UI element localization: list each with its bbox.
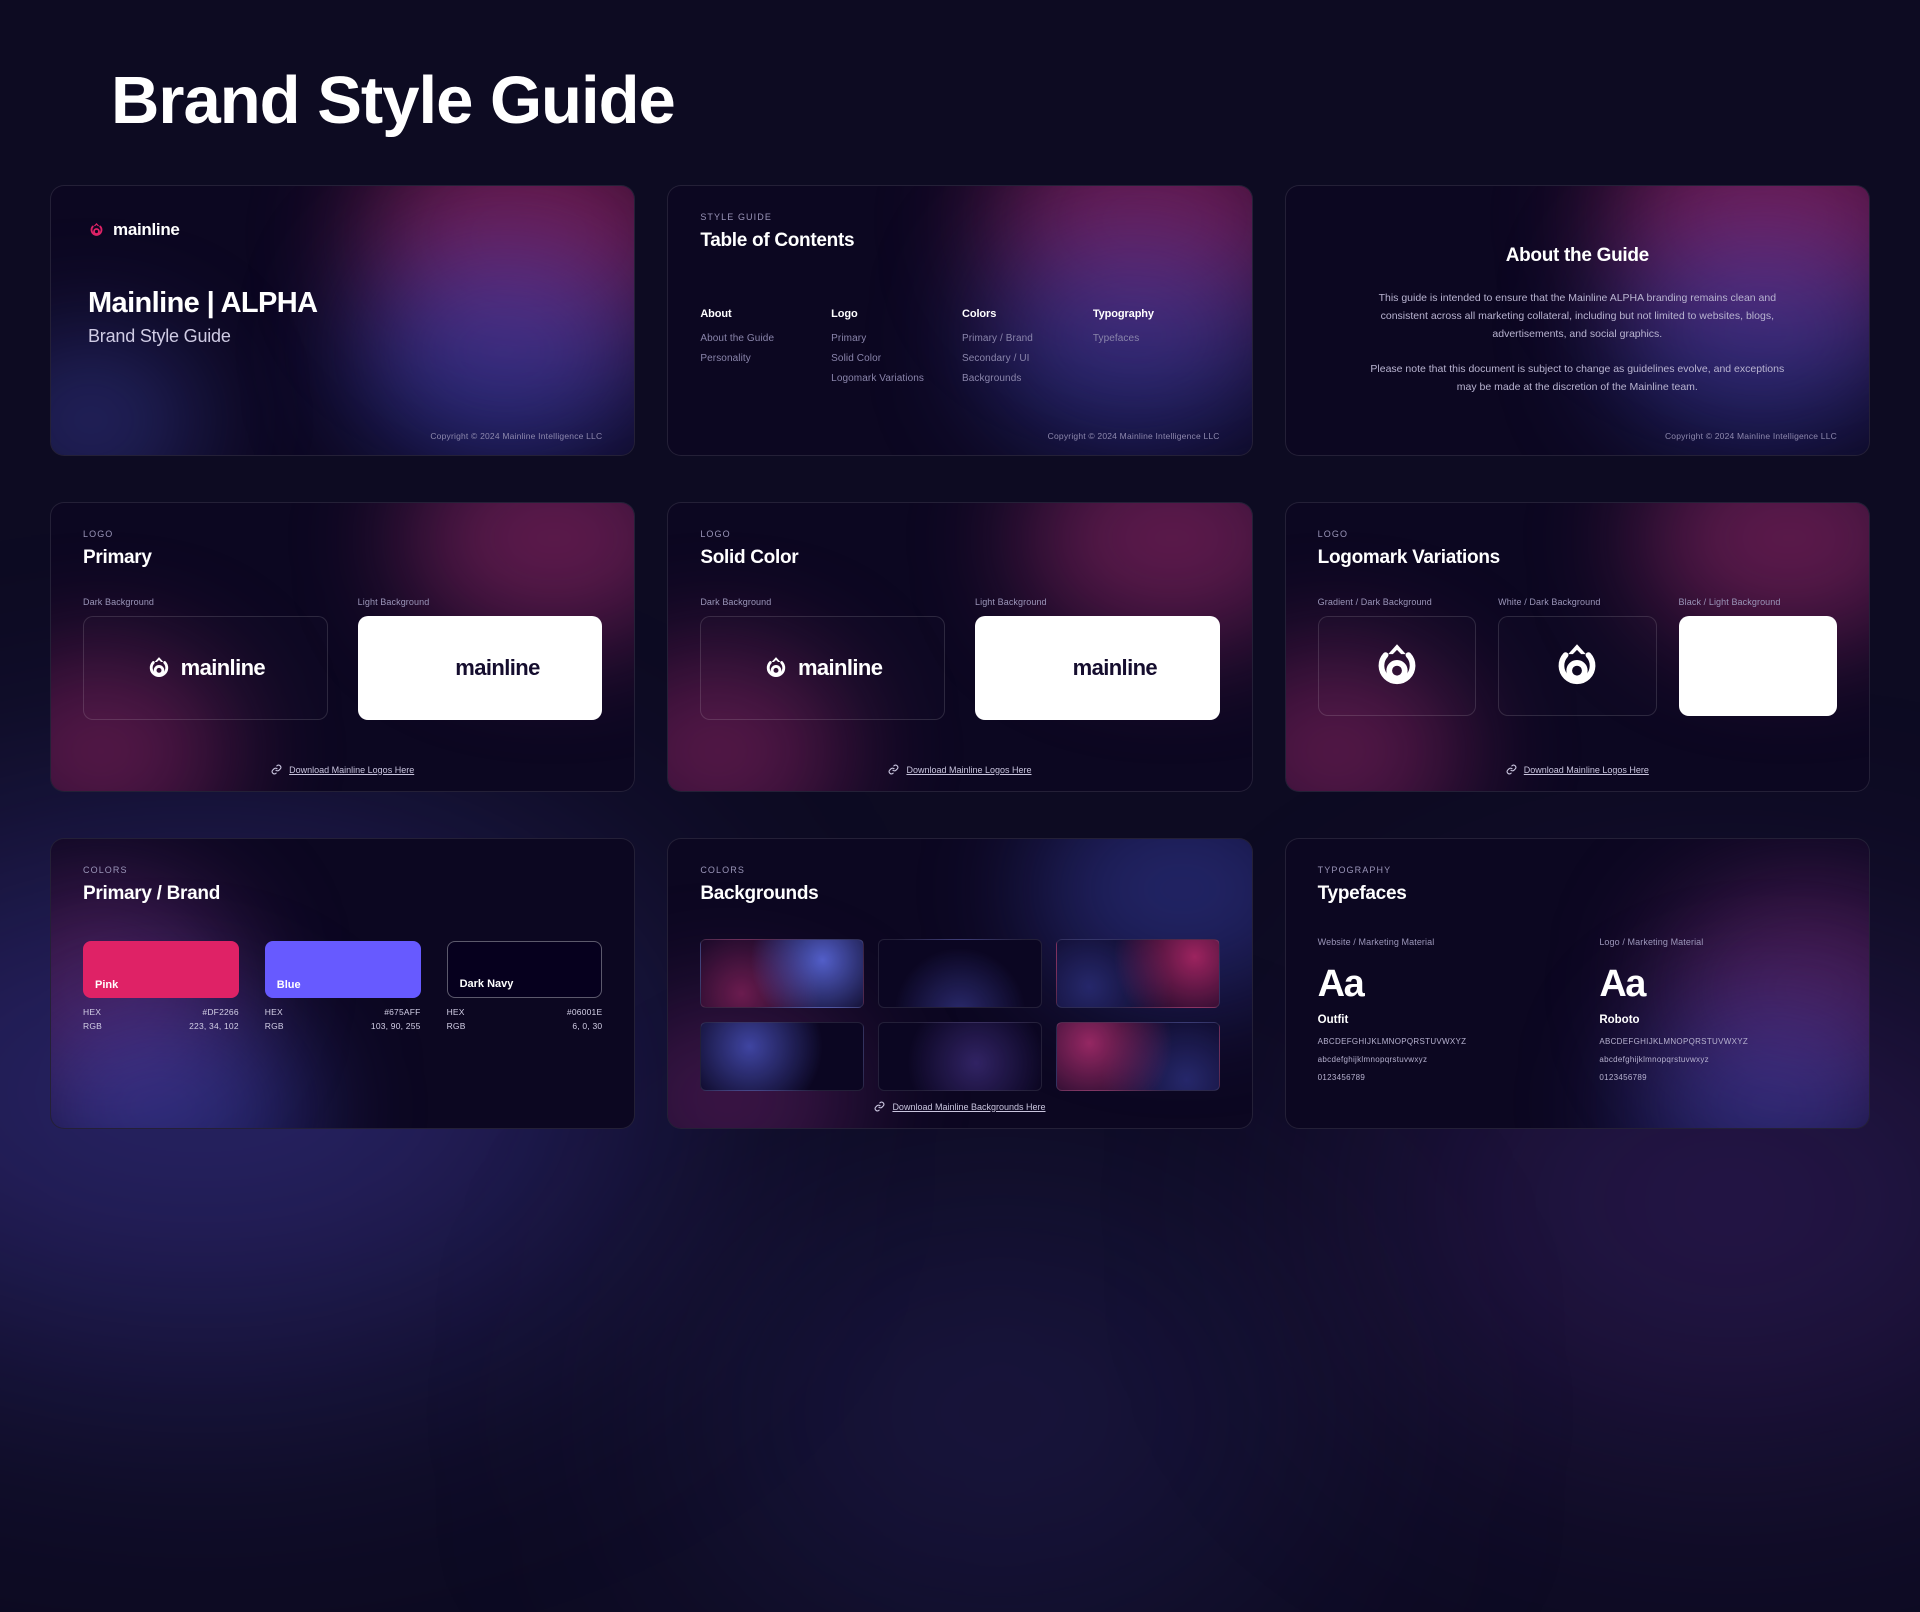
logo-solid-light-label: Light Background: [975, 597, 1220, 607]
mainline-logomark-icon: [1371, 638, 1423, 694]
toc-link-secondary-ui[interactable]: Secondary / UI: [962, 353, 1089, 364]
cover-title-block: Mainline | ALPHA Brand Style Guide: [88, 287, 317, 347]
logo-solid-light-col: Light Background mainline: [975, 597, 1220, 720]
typeface-uppercase: ABCDEFGHIJKLMNOPQRSTUVWXYZ: [1318, 1037, 1556, 1046]
hex-value: #DF2266: [202, 1007, 238, 1017]
mainline-logomark-icon: [88, 221, 105, 239]
color-swatch-blue: Blue HEX#675AFF RGB103, 90, 255: [265, 941, 421, 1035]
rgb-value: 103, 90, 255: [371, 1021, 421, 1031]
toc-column-logo: Logo Primary Solid Color Logomark Variat…: [831, 308, 958, 393]
background-tile[interactable]: [1056, 1022, 1220, 1091]
typeface-numerals: 0123456789: [1599, 1073, 1837, 1082]
background-tile[interactable]: [878, 939, 1042, 1008]
typeface-sample: Aa: [1599, 963, 1837, 1006]
logomark-black-col: Black / Light Background: [1679, 597, 1837, 716]
link-icon: [874, 1101, 885, 1112]
card-backgrounds: COLORS Backgrounds Download Mainline Bac…: [667, 838, 1252, 1129]
mainline-logomark-icon: [146, 654, 172, 682]
logo-primary-light-col: Light Background mainline: [358, 597, 603, 720]
toc-column-title: Colors: [962, 308, 1089, 320]
logo-primary-dark-label: Dark Background: [83, 597, 328, 607]
logomark-box-black: [1679, 616, 1837, 716]
toc-link-primary-brand[interactable]: Primary / Brand: [962, 333, 1089, 344]
logo-solid-dark-label: Dark Background: [700, 597, 945, 607]
rgb-label: RGB: [265, 1021, 284, 1031]
toc-eyebrow: STYLE GUIDE: [700, 212, 1219, 222]
background-tile[interactable]: [1056, 939, 1220, 1008]
logomark-label-black: Black / Light Background: [1679, 597, 1837, 607]
color-name: Dark Navy: [460, 978, 514, 990]
logo-primary-heading: Primary: [83, 547, 602, 569]
wordmark: mainline: [1073, 655, 1157, 681]
background-tile[interactable]: [700, 939, 864, 1008]
logomark-box-gradient: [1318, 616, 1476, 716]
about-paragraph-1: This guide is intended to ensure that th…: [1364, 289, 1791, 343]
logo-primary-eyebrow: LOGO: [83, 529, 602, 539]
grid-row-3: COLORS Primary / Brand Pink HEX#DF2266 R…: [49, 838, 1871, 1129]
typeface-name: Roboto: [1599, 1014, 1837, 1026]
download-logos-label: Download Mainline Logos Here: [289, 765, 414, 775]
toc-column-title: Typography: [1093, 308, 1220, 320]
download-logos-label: Download Mainline Logos Here: [906, 765, 1031, 775]
mainline-logomark-icon: [1038, 654, 1064, 682]
toc-heading: Table of Contents: [700, 230, 1219, 252]
toc-link-typefaces[interactable]: Typefaces: [1093, 333, 1220, 344]
logomark-heading: Logomark Variations: [1318, 547, 1837, 569]
colors-primary-eyebrow: COLORS: [83, 865, 602, 875]
logomark-white-col: White / Dark Background: [1498, 597, 1656, 716]
typeface-roboto: Logo / Marketing Material Aa Roboto ABCD…: [1599, 937, 1837, 1091]
mainline-logomark-icon: [1732, 638, 1784, 694]
cover-subtitle: Brand Style Guide: [88, 326, 317, 347]
download-logos-label: Download Mainline Logos Here: [1524, 765, 1649, 775]
logomark-eyebrow: LOGO: [1318, 529, 1837, 539]
logo-primary-light-label: Light Background: [358, 597, 603, 607]
toc-column-about: About About the Guide Personality: [700, 308, 827, 393]
typeface-uppercase: ABCDEFGHIJKLMNOPQRSTUVWXYZ: [1599, 1037, 1837, 1046]
hex-value: #675AFF: [384, 1007, 420, 1017]
download-logos-link[interactable]: Download Mainline Logos Here: [51, 764, 634, 775]
colors-primary-heading: Primary / Brand: [83, 883, 602, 905]
color-chip-blue: Blue: [265, 941, 421, 998]
download-backgrounds-label: Download Mainline Backgrounds Here: [892, 1102, 1045, 1112]
about-heading: About the Guide: [1506, 245, 1649, 267]
link-icon: [271, 764, 282, 775]
download-logos-link[interactable]: Download Mainline Logos Here: [668, 764, 1251, 775]
logo-solid-heading: Solid Color: [700, 547, 1219, 569]
logo-solid-light-swatch: mainline: [975, 616, 1220, 720]
copyright-about: Copyright © 2024 Mainline Intelligence L…: [1665, 431, 1837, 441]
color-name: Pink: [95, 979, 118, 991]
cover-title: Mainline | ALPHA: [88, 287, 317, 320]
toc-column-title: About: [700, 308, 827, 320]
card-about-the-guide: About the Guide This guide is intended t…: [1285, 185, 1870, 456]
toc-column-typography: Typography Typefaces: [1093, 308, 1220, 393]
toc-columns: About About the Guide Personality Logo P…: [700, 308, 1219, 393]
rgb-label: RGB: [83, 1021, 102, 1031]
toc-link-solid-color[interactable]: Solid Color: [831, 353, 958, 364]
toc-link-backgrounds[interactable]: Backgrounds: [962, 373, 1089, 384]
download-logos-link[interactable]: Download Mainline Logos Here: [1286, 764, 1869, 775]
rgb-value: 6, 0, 30: [572, 1021, 602, 1031]
mainline-logomark-icon: [420, 654, 446, 682]
typography-heading: Typefaces: [1318, 883, 1837, 905]
hex-label: HEX: [83, 1007, 101, 1017]
logo-primary-dark-swatch: mainline: [83, 616, 328, 720]
wordmark: mainline: [181, 655, 265, 681]
color-swatch-pink: Pink HEX#DF2266 RGB223, 34, 102: [83, 941, 239, 1035]
logomark-gradient-col: Gradient / Dark Background: [1318, 597, 1476, 716]
card-typefaces: TYPOGRAPHY Typefaces Website / Marketing…: [1285, 838, 1870, 1129]
copyright-cover: Copyright © 2024 Mainline Intelligence L…: [430, 431, 602, 441]
hex-label: HEX: [447, 1007, 465, 1017]
typeface-usage: Website / Marketing Material: [1318, 937, 1556, 947]
logomark-box-white: [1498, 616, 1656, 716]
link-icon: [1506, 764, 1517, 775]
card-colors-primary-brand: COLORS Primary / Brand Pink HEX#DF2266 R…: [50, 838, 635, 1129]
hex-label: HEX: [265, 1007, 283, 1017]
about-paragraph-2: Please note that this document is subjec…: [1364, 360, 1791, 396]
toc-column-title: Logo: [831, 308, 958, 320]
rgb-value: 223, 34, 102: [189, 1021, 239, 1031]
toc-link-personality[interactable]: Personality: [700, 353, 827, 364]
typeface-usage: Logo / Marketing Material: [1599, 937, 1837, 947]
card-cover: mainline Mainline | ALPHA Brand Style Gu…: [50, 185, 635, 456]
mainline-logomark-icon: [1551, 638, 1603, 694]
grid-row-2: LOGO Primary Dark Background mainline: [49, 502, 1871, 792]
backgrounds-eyebrow: COLORS: [700, 865, 1219, 875]
toc-link-primary[interactable]: Primary: [831, 333, 958, 344]
toc-link-logomark-variations[interactable]: Logomark Variations: [831, 373, 958, 384]
logo-primary-dark-col: Dark Background mainline: [83, 597, 328, 720]
grid-row-1: mainline Mainline | ALPHA Brand Style Gu…: [49, 185, 1871, 456]
color-name: Blue: [277, 979, 301, 991]
toc-column-colors: Colors Primary / Brand Secondary / UI Ba…: [962, 308, 1089, 393]
typography-eyebrow: TYPOGRAPHY: [1318, 865, 1837, 875]
typeface-lowercase: abcdefghijklmnopqrstuvwxyz: [1318, 1055, 1556, 1064]
hex-value: #06001E: [567, 1007, 602, 1017]
card-logo-primary: LOGO Primary Dark Background mainline: [50, 502, 635, 792]
rgb-label: RGB: [447, 1021, 466, 1031]
color-chip-pink: Pink: [83, 941, 239, 998]
typeface-numerals: 0123456789: [1318, 1073, 1556, 1082]
toc-link-about-the-guide[interactable]: About the Guide: [700, 333, 827, 344]
typeface-lowercase: abcdefghijklmnopqrstuvwxyz: [1599, 1055, 1837, 1064]
wordmark: mainline: [798, 655, 882, 681]
background-tile[interactable]: [700, 1022, 864, 1091]
logo-solid-dark-col: Dark Background mainline: [700, 597, 945, 720]
logo-solid-eyebrow: LOGO: [700, 529, 1219, 539]
background-tile[interactable]: [878, 1022, 1042, 1091]
logo-primary-light-swatch: mainline: [358, 616, 603, 720]
typeface-sample: Aa: [1318, 963, 1556, 1006]
backgrounds-heading: Backgrounds: [700, 883, 1219, 905]
copyright-toc: Copyright © 2024 Mainline Intelligence L…: [1048, 431, 1220, 441]
card-logomark-variations: LOGO Logomark Variations Gradient / Dark…: [1285, 502, 1870, 792]
page-title: Brand Style Guide: [111, 62, 1871, 139]
download-backgrounds-link[interactable]: Download Mainline Backgrounds Here: [668, 1101, 1251, 1112]
brand-lockup: mainline: [88, 220, 602, 240]
color-chip-dark-navy: Dark Navy: [447, 941, 603, 998]
typeface-outfit: Website / Marketing Material Aa Outfit A…: [1318, 937, 1556, 1091]
logomark-label-white: White / Dark Background: [1498, 597, 1656, 607]
card-table-of-contents: STYLE GUIDE Table of Contents About Abou…: [667, 185, 1252, 456]
link-icon: [888, 764, 899, 775]
color-swatch-dark-navy: Dark Navy HEX#06001E RGB6, 0, 30: [447, 941, 603, 1035]
logo-solid-dark-swatch: mainline: [700, 616, 945, 720]
brand-name: mainline: [113, 220, 180, 240]
mainline-logomark-icon: [763, 654, 789, 682]
typeface-name: Outfit: [1318, 1014, 1556, 1026]
logomark-label-gradient: Gradient / Dark Background: [1318, 597, 1476, 607]
card-logo-solid-color: LOGO Solid Color Dark Background mainlin…: [667, 502, 1252, 792]
wordmark: mainline: [455, 655, 539, 681]
page-root: Brand Style Guide mainline Mainline | AL…: [0, 62, 1920, 1394]
